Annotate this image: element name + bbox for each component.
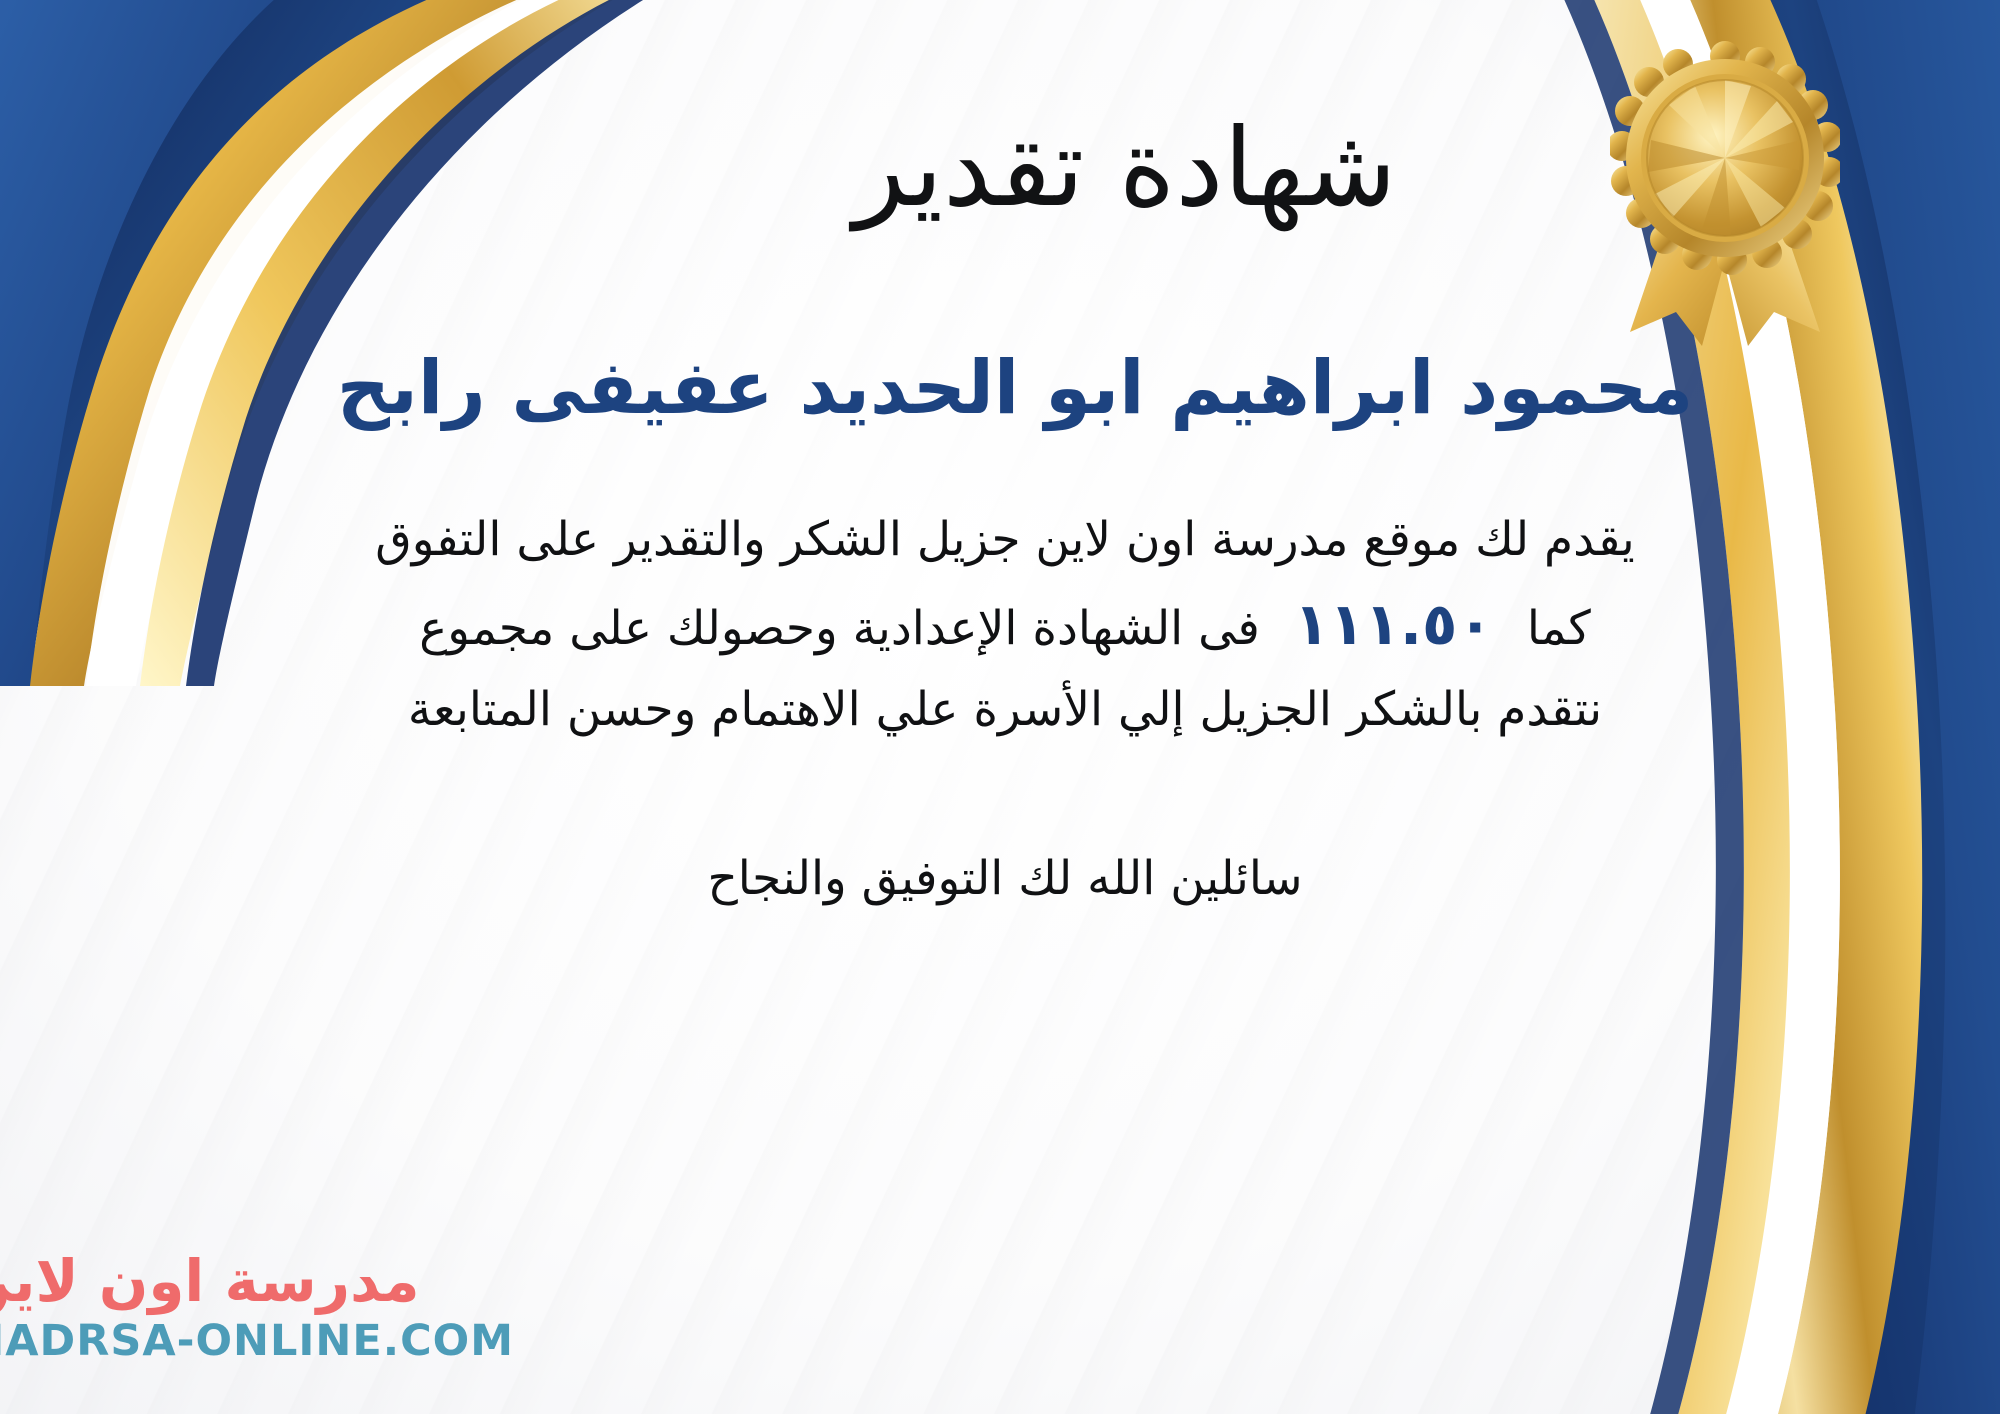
certificate-canvas: شهادة تقدير محمود ابراهيم ابو الحديد عفي… [0, 0, 2000, 1414]
brand-arabic-name: مدرسة اون لاين [0, 1252, 419, 1310]
body-line-3: نتقدم بالشكر الجزيل إلي الأسرة علي الاهت… [200, 672, 1810, 748]
brand-logo[interactable]: مدرسة اون لاين MADRSA-ONLINE.COM [44, 1232, 514, 1382]
body-line-2: كما ١١١.٥٠ فى الشهادة الإعدادية وحصولك ع… [200, 578, 1810, 672]
brand-website-url: MADRSA-ONLINE.COM [0, 1320, 514, 1363]
certificate-content: شهادة تقدير محمود ابراهيم ابو الحديد عفي… [0, 0, 2000, 915]
brand-text: مدرسة اون لاين MADRSA-ONLINE.COM [0, 1252, 514, 1363]
closing-line: سائلين الله لك التوفيق والنجاح [0, 748, 2000, 915]
certificate-body: يقدم لك موقع مدرسة اون لاين جزيل الشكر و… [0, 430, 2000, 748]
body-line-2-left-segment: كما [1527, 591, 1591, 667]
certificate-title: شهادة تقدير [0, 0, 2000, 225]
recipient-name: محمود ابراهيم ابو الحديد عفيفى رابح [0, 225, 2000, 430]
body-line-1: يقدم لك موقع مدرسة اون لاين جزيل الشكر و… [200, 502, 1810, 578]
body-line-2-right-segment: فى الشهادة الإعدادية وحصولك على مجموع [419, 591, 1260, 667]
grade-total-value: ١١١.٥٠ [1260, 578, 1527, 672]
